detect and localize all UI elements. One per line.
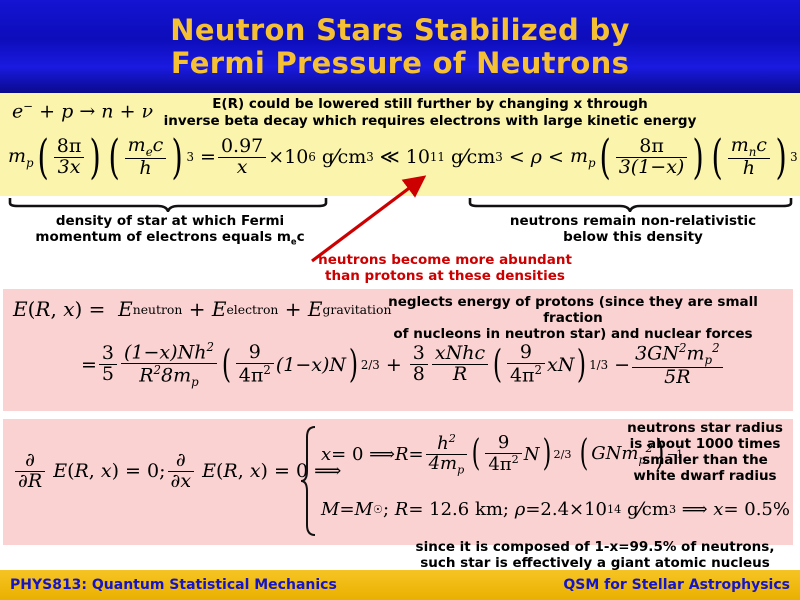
right-brace-note-line1: neutrons remain non-relativistic <box>510 213 756 229</box>
bottom-note-line2: such star is effectively a giant atomic … <box>420 555 770 571</box>
footer-topic-label: QSM for Stellar Astrophysics <box>563 577 790 593</box>
yellow-header-line-2: inverse beta decay which requires electr… <box>120 114 740 130</box>
footer-course-label: PHYS813: Quantum Statistical Mechanics <box>10 577 337 593</box>
left-brace-note-line1: density of star at which Fermi <box>56 213 284 229</box>
energy-note-line1: neglects energy of protons (since they a… <box>388 294 758 326</box>
radius-note-line4: white dwarf radius <box>633 468 776 484</box>
title-banner: Neutron Stars Stabilized by Fermi Pressu… <box>0 0 800 93</box>
yellow-header-line-1: E(R) could be lowered still further by c… <box>170 97 690 113</box>
solution-panel: ∂∂R E(R, x) = 0; ∂∂x E(R, x) = 0 ⟹ x = 0… <box>3 419 793 545</box>
title-line-1: Neutron Stars Stabilized by <box>170 14 629 47</box>
right-brace-note: neutrons remain non-relativistic below t… <box>478 214 788 246</box>
radius-note: neutrons star radius is about 1000 times… <box>615 421 795 485</box>
arrow-note: neutrons become more abundant than proto… <box>295 253 595 285</box>
stationarity-conditions: ∂∂R E(R, x) = 0; ∂∂x E(R, x) = 0 ⟹ <box>13 451 341 492</box>
left-underbrace <box>8 196 328 212</box>
energy-equation-panel: E(R, x) = Eneutron + Eelectron + Egravit… <box>3 289 793 411</box>
bottom-note: since it is composed of 1-x=99.5% of neu… <box>400 540 790 572</box>
left-brace-note: density of star at which Fermi momentum … <box>20 214 320 247</box>
arrow-note-line1: neutrons become more abundant <box>318 252 572 268</box>
density-inequality-equation: mp ( 8π3x ) ( mech )3 = 0.97x ×106 g⁄cm3… <box>8 136 800 179</box>
radius-note-line1: neutrons star radius <box>627 420 783 436</box>
energy-expansion-equation: = 35 (1−x)Nh2 R28mp ( 94π2 (1−x)N )2/3 +… <box>81 341 725 388</box>
radius-note-line3: smaller than the <box>642 452 768 468</box>
case-brace <box>299 425 319 537</box>
energy-note-line2: of nucleons in neutron star) and nuclear… <box>393 326 752 342</box>
footer-bar: PHYS813: Quantum Statistical Mechanics Q… <box>0 570 800 600</box>
bottom-note-line1: since it is composed of 1-x=99.5% of neu… <box>416 539 775 555</box>
radius-note-line2: is about 1000 times <box>630 436 781 452</box>
left-brace-note-line2: momentum of electrons equals m <box>35 229 291 245</box>
right-brace-note-line2: below this density <box>563 229 703 245</box>
energy-definition-equation: E(R, x) = Eneutron + Eelectron + Egravit… <box>13 297 391 321</box>
title-line-2: Fermi Pressure of Neutrons <box>171 47 629 80</box>
arrow-note-line2: than protons at these densities <box>325 268 565 284</box>
right-underbrace <box>468 196 793 212</box>
solution-case-mass: M = M☉; R = 12.6 km; ρ=2.4×1014 g⁄cm3 ⟹ … <box>321 498 790 521</box>
energy-note: neglects energy of protons (since they a… <box>358 295 788 343</box>
